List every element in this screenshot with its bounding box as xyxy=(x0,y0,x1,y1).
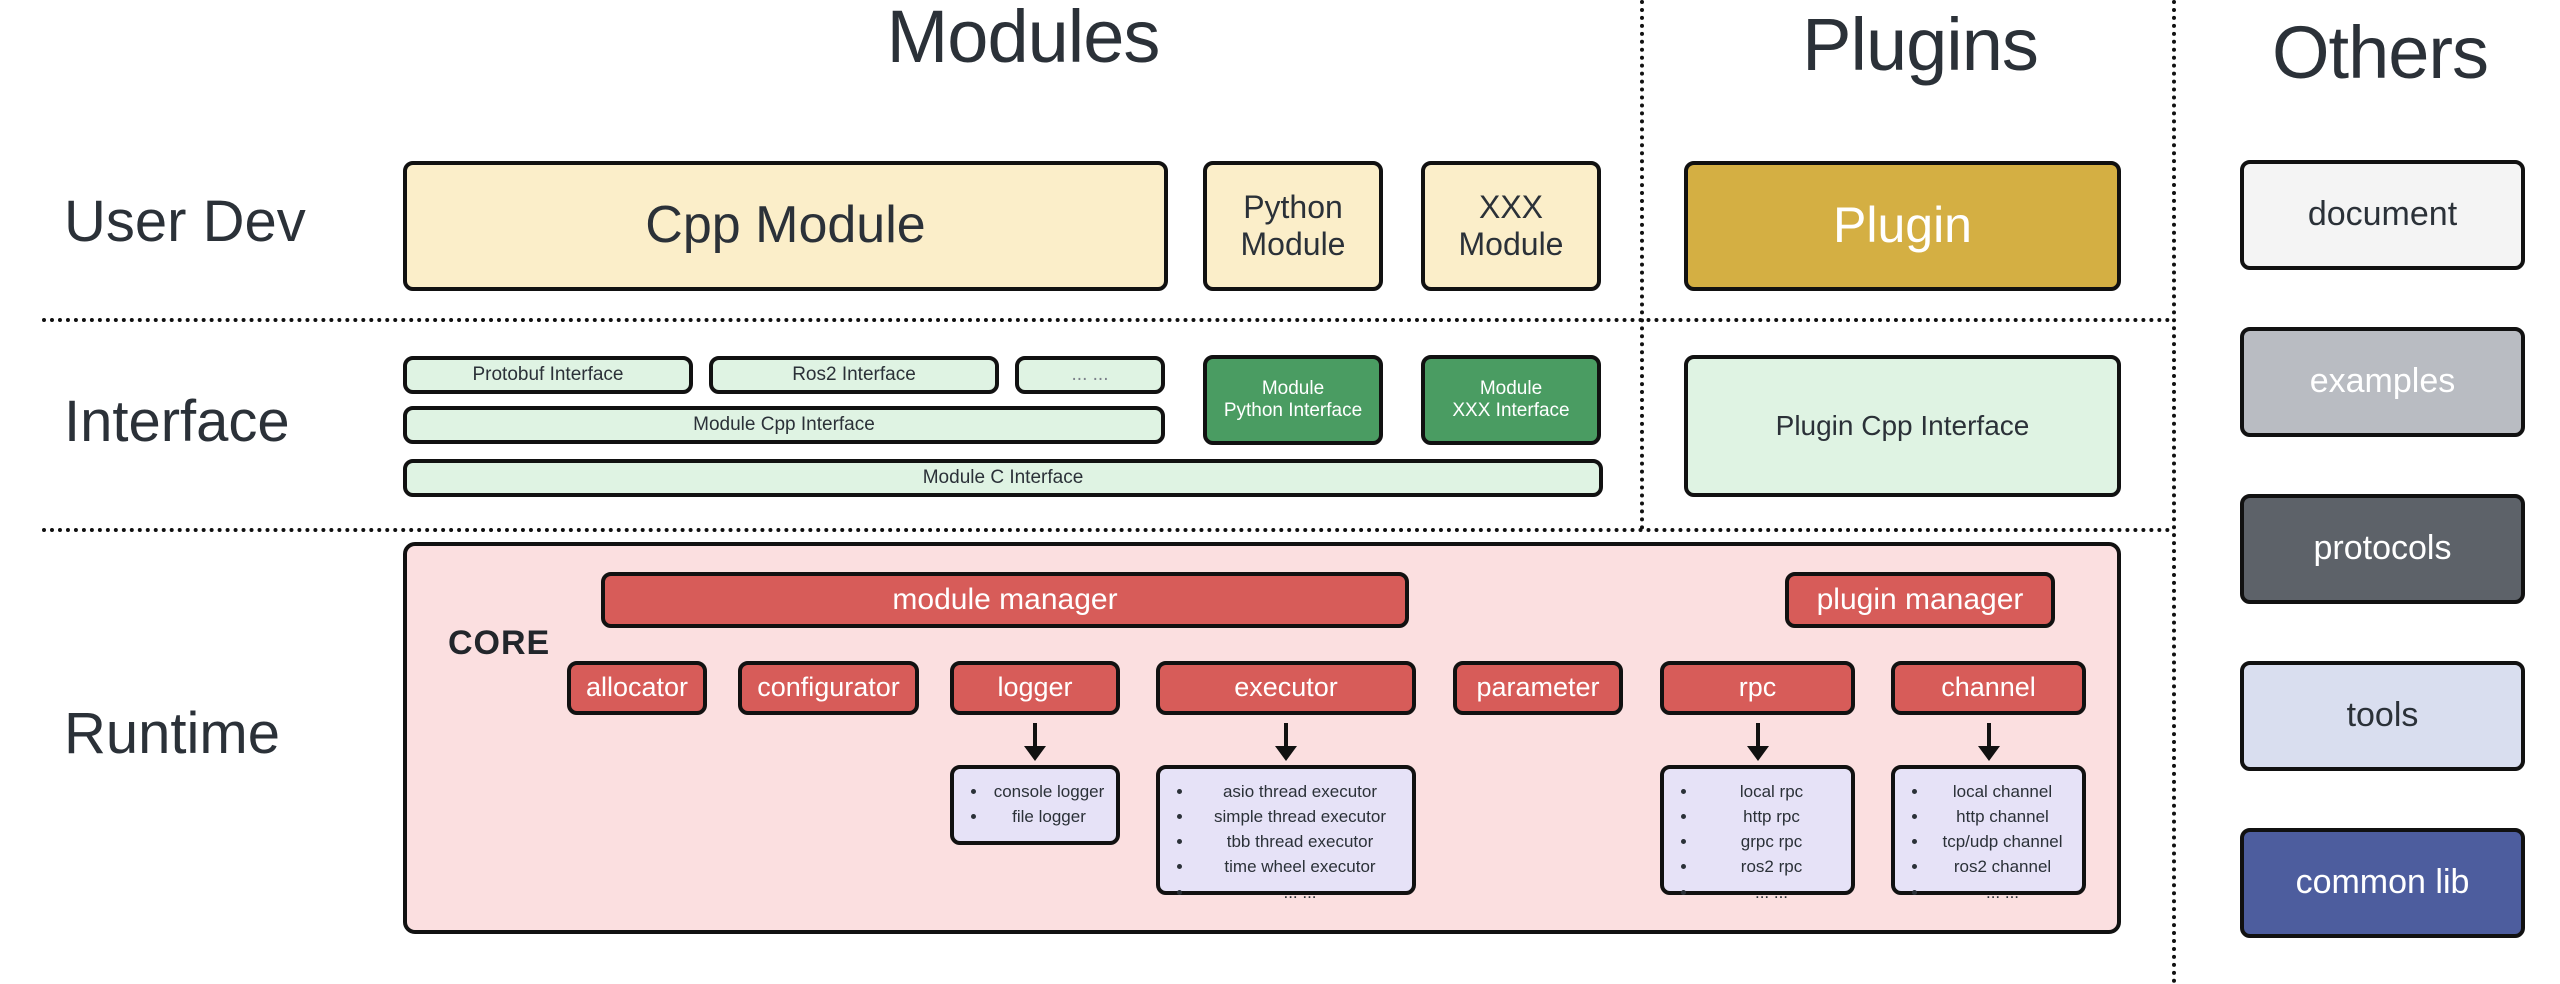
module-cpp-interface-label: Module Cpp Interface xyxy=(693,414,875,436)
others-item-common-lib-label: common lib xyxy=(2296,863,2470,902)
module-python-interface-box[interactable]: Module Python Interface xyxy=(1203,355,1383,445)
module-xxx-interface-label-line2: XXX Interface xyxy=(1452,400,1569,422)
channel-label: channel xyxy=(1941,672,2036,703)
list-item: local channel xyxy=(1929,779,2076,804)
logger-box[interactable]: logger xyxy=(950,661,1120,715)
list-item: ... ... xyxy=(1698,880,1845,905)
more-interface-label: ... ... xyxy=(1072,364,1109,386)
row-label-runtime: Runtime xyxy=(64,700,280,767)
executor-arrow xyxy=(1271,723,1301,761)
cpp-module-label: Cpp Module xyxy=(645,196,925,256)
logger-arrow xyxy=(1020,723,1050,761)
module-manager-box[interactable]: module manager xyxy=(601,572,1409,628)
xxx-module-label-line2: Module xyxy=(1459,226,1564,263)
module-cpp-interface-box[interactable]: Module Cpp Interface xyxy=(403,406,1165,444)
others-item-tools[interactable]: tools xyxy=(2240,661,2525,771)
list-item: ... ... xyxy=(1194,880,1406,905)
module-python-interface-label-line2: Python Interface xyxy=(1224,400,1362,422)
column-title-others: Others xyxy=(2210,10,2550,95)
list-item: ... ... xyxy=(1929,880,2076,905)
executor-items-box: asio thread executorsimple thread execut… xyxy=(1156,765,1416,895)
plugin-manager-box[interactable]: plugin manager xyxy=(1785,572,2055,628)
allocator-label: allocator xyxy=(586,672,688,703)
parameter-box[interactable]: parameter xyxy=(1453,661,1623,715)
core-container: CORE module manager plugin manager alloc… xyxy=(403,542,2121,934)
python-module-label-line1: Python xyxy=(1243,189,1343,226)
list-item: console logger xyxy=(988,779,1110,804)
executor-items-list: asio thread executorsimple thread execut… xyxy=(1170,779,1406,905)
rpc-items-box: local rpchttp rpcgrpc rpcros2 rpc... ... xyxy=(1660,765,1855,895)
channel-items-box: local channelhttp channeltcp/udp channel… xyxy=(1891,765,2086,895)
divider-modules-plugins xyxy=(1640,0,1644,530)
list-item: time wheel executor xyxy=(1194,854,1406,879)
divider-interface-runtime xyxy=(42,528,2172,532)
channel-items-list: local channelhttp channeltcp/udp channel… xyxy=(1905,779,2076,905)
list-item: local rpc xyxy=(1698,779,1845,804)
channel-arrow xyxy=(1974,723,2004,761)
more-interface-box[interactable]: ... ... xyxy=(1015,356,1165,394)
divider-plugins-others xyxy=(2172,0,2176,984)
configurator-box[interactable]: configurator xyxy=(738,661,919,715)
protobuf-interface-label: Protobuf Interface xyxy=(472,364,623,386)
cpp-module-box[interactable]: Cpp Module xyxy=(403,161,1168,291)
rpc-arrow xyxy=(1743,723,1773,761)
ros2-interface-box[interactable]: Ros2 Interface xyxy=(709,356,999,394)
plugin-box[interactable]: Plugin xyxy=(1684,161,2121,291)
others-item-examples[interactable]: examples xyxy=(2240,327,2525,437)
plugin-cpp-interface-box[interactable]: Plugin Cpp Interface xyxy=(1684,355,2121,497)
parameter-label: parameter xyxy=(1476,672,1599,703)
core-label: CORE xyxy=(448,624,550,663)
list-item: http channel xyxy=(1929,804,2076,829)
plugin-manager-label: plugin manager xyxy=(1817,583,2024,618)
others-item-examples-label: examples xyxy=(2310,362,2456,401)
list-item: grpc rpc xyxy=(1698,829,1845,854)
list-item: http rpc xyxy=(1698,804,1845,829)
list-item: simple thread executor xyxy=(1194,804,1406,829)
logger-items-box: console loggerfile logger xyxy=(950,765,1120,845)
architecture-diagram: Modules Plugins Others User Dev Interfac… xyxy=(0,0,2560,984)
list-item: ros2 rpc xyxy=(1698,854,1845,879)
allocator-box[interactable]: allocator xyxy=(567,661,707,715)
executor-label: executor xyxy=(1234,672,1338,703)
module-manager-label: module manager xyxy=(892,583,1117,618)
python-module-label-line2: Module xyxy=(1241,226,1346,263)
others-item-tools-label: tools xyxy=(2347,696,2419,735)
protobuf-interface-box[interactable]: Protobuf Interface xyxy=(403,356,693,394)
executor-box[interactable]: executor xyxy=(1156,661,1416,715)
others-item-document-label: document xyxy=(2308,195,2457,234)
module-c-interface-label: Module C Interface xyxy=(923,467,1084,489)
list-item: ros2 channel xyxy=(1929,854,2076,879)
list-item: asio thread executor xyxy=(1194,779,1406,804)
logger-items-list: console loggerfile logger xyxy=(964,779,1110,829)
module-xxx-interface-box[interactable]: Module XXX Interface xyxy=(1421,355,1601,445)
plugin-label: Plugin xyxy=(1833,197,1972,255)
python-module-box[interactable]: Python Module xyxy=(1203,161,1383,291)
others-column: document examples protocols tools common… xyxy=(2240,160,2525,950)
list-item: tbb thread executor xyxy=(1194,829,1406,854)
module-python-interface-label-line1: Module xyxy=(1262,378,1324,400)
ros2-interface-label: Ros2 Interface xyxy=(792,364,916,386)
rpc-items-list: local rpchttp rpcgrpc rpcros2 rpc... ... xyxy=(1674,779,1845,905)
channel-box[interactable]: channel xyxy=(1891,661,2086,715)
list-item: file logger xyxy=(988,804,1110,829)
others-item-document[interactable]: document xyxy=(2240,160,2525,270)
others-item-protocols-label: protocols xyxy=(2314,529,2452,568)
configurator-label: configurator xyxy=(757,672,900,703)
module-c-interface-box[interactable]: Module C Interface xyxy=(403,459,1603,497)
rpc-label: rpc xyxy=(1739,672,1777,703)
others-item-common-lib[interactable]: common lib xyxy=(2240,828,2525,938)
column-title-plugins: Plugins xyxy=(1700,2,2140,87)
column-title-modules: Modules xyxy=(403,0,1643,79)
row-label-user-dev: User Dev xyxy=(64,188,306,255)
row-label-interface: Interface xyxy=(64,388,290,455)
plugin-cpp-interface-label: Plugin Cpp Interface xyxy=(1776,410,2030,442)
xxx-module-box[interactable]: XXX Module xyxy=(1421,161,1601,291)
list-item: tcp/udp channel xyxy=(1929,829,2076,854)
divider-userdev-interface xyxy=(42,318,2172,322)
xxx-module-label-line1: XXX xyxy=(1479,189,1543,226)
others-item-protocols[interactable]: protocols xyxy=(2240,494,2525,604)
rpc-box[interactable]: rpc xyxy=(1660,661,1855,715)
logger-label: logger xyxy=(997,672,1072,703)
module-xxx-interface-label-line1: Module xyxy=(1480,378,1542,400)
